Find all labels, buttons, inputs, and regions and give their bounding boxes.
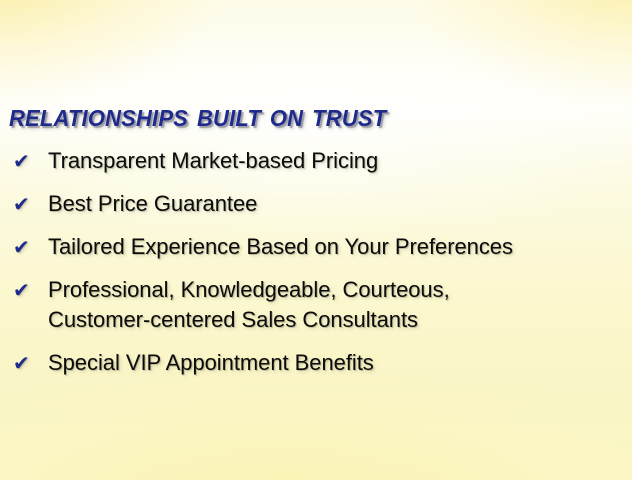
check-mark-icon: ✔ — [13, 146, 39, 176]
check-mark-icon: ✔ — [13, 348, 39, 378]
list-item-text: Best Price Guarantee — [48, 191, 257, 216]
list-item-text-continued: Customer-centered Sales Consultants — [48, 305, 632, 335]
check-mark-icon: ✔ — [13, 189, 39, 219]
list-item-text: Transparent Market-based Pricing — [48, 148, 378, 173]
list-item: ✔ Best Price Guarantee — [0, 189, 632, 219]
presentation-slide: Relationships Built on Trust ✔ Transpare… — [0, 0, 632, 480]
list-item: ✔ Tailored Experience Based on Your Pref… — [0, 232, 632, 262]
list-item: ✔ Professional, Knowledgeable, Courteous… — [0, 275, 632, 335]
list-item-text: Tailored Experience Based on Your Prefer… — [48, 234, 513, 259]
list-item: ✔ Transparent Market-based Pricing — [0, 146, 632, 176]
slide-content: Relationships Built on Trust ✔ Transpare… — [0, 0, 632, 480]
list-item-text: Special VIP Appointment Benefits — [48, 350, 374, 375]
slide-title: Relationships Built on Trust — [9, 96, 599, 134]
list-item: ✔ Special VIP Appointment Benefits — [0, 348, 632, 378]
check-mark-icon: ✔ — [13, 275, 39, 305]
list-item-text: Professional, Knowledgeable, Courteous, — [48, 277, 450, 302]
check-mark-icon: ✔ — [13, 232, 39, 262]
benefits-bullet-list: ✔ Transparent Market-based Pricing ✔ Bes… — [0, 146, 632, 391]
